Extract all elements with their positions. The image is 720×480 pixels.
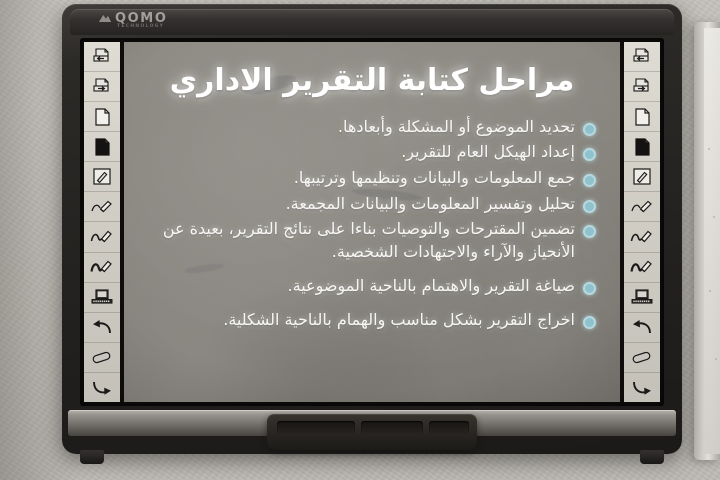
bullet-marker-icon	[583, 282, 596, 295]
redo-icon	[630, 379, 654, 396]
list-item: تحليل وتفسير المعلومات والبيانات المجمعة…	[146, 193, 596, 216]
keyboard-icon	[91, 288, 113, 306]
interactive-whiteboard: QOMO TECHNOLOGY	[62, 4, 682, 454]
tool-eraser[interactable]	[84, 343, 120, 373]
pen-tray[interactable]	[267, 414, 477, 450]
new-page-icon	[634, 108, 651, 126]
tool-pen-boxed[interactable]	[624, 162, 660, 192]
projection-screen: مراحل كتابة التقرير الاداري تحديد الموضو…	[124, 42, 620, 402]
tool-pen-medium[interactable]	[624, 222, 660, 252]
photo-scene: QOMO TECHNOLOGY	[0, 0, 720, 480]
tool-redo[interactable]	[84, 373, 120, 402]
tool-pen-thin[interactable]	[624, 192, 660, 222]
tool-redo[interactable]	[624, 373, 660, 402]
tool-page-previous[interactable]	[624, 42, 660, 72]
toolbar-left	[84, 42, 120, 402]
page-previous-icon	[92, 48, 112, 65]
pen-medium-icon	[90, 229, 114, 245]
bullet-marker-icon	[583, 174, 596, 187]
bullet-marker-icon	[583, 148, 596, 161]
list-item: جمع المعلومات والبيانات وتنظيمها وترتيبه…	[146, 167, 596, 190]
tool-keyboard[interactable]	[624, 283, 660, 313]
pen-slot	[361, 421, 423, 434]
tool-pen-thick[interactable]	[624, 253, 660, 283]
toolbar-right	[624, 42, 660, 402]
pen-boxed-icon	[632, 167, 652, 186]
pen-medium-icon	[630, 229, 654, 245]
tool-pen-boxed[interactable]	[84, 162, 120, 192]
tool-pen-thick[interactable]	[84, 253, 120, 283]
presentation-slide: مراحل كتابة التقرير الاداري تحديد الموضو…	[124, 42, 620, 402]
black-page-icon	[634, 138, 651, 156]
bullet-marker-icon	[583, 316, 596, 329]
bullet-text: صياغة التقرير والاهتمام بالناحية الموضوع…	[146, 275, 575, 298]
bullet-text: اخراج التقرير بشكل مناسب والهمام بالناحي…	[146, 309, 575, 332]
list-item: صياغة التقرير والاهتمام بالناحية الموضوع…	[146, 275, 596, 298]
black-page-icon	[94, 138, 111, 156]
pen-slot	[429, 421, 469, 434]
tool-eraser[interactable]	[624, 343, 660, 373]
tool-undo[interactable]	[84, 313, 120, 343]
tool-keyboard[interactable]	[84, 283, 120, 313]
tool-new-page[interactable]	[84, 102, 120, 132]
list-item: إعداد الهيكل العام للتقرير.	[146, 141, 596, 164]
mount-foot-left	[80, 450, 104, 464]
bullet-marker-icon	[583, 123, 596, 136]
whiteboard-inner-frame: مراحل كتابة التقرير الاداري تحديد الموضو…	[80, 38, 664, 406]
bullet-marker-icon	[583, 225, 596, 238]
bullet-text: جمع المعلومات والبيانات وتنظيمها وترتيبه…	[146, 167, 575, 190]
whiteboard-top-rail: QOMO TECHNOLOGY	[70, 9, 674, 35]
adjacent-whiteboard-surface	[704, 28, 720, 454]
pen-thick-icon	[630, 259, 654, 275]
page-previous-icon	[632, 48, 652, 65]
tool-page-next[interactable]	[84, 72, 120, 102]
page-next-icon	[92, 78, 112, 95]
pen-slot	[277, 421, 355, 434]
redo-icon	[90, 379, 114, 396]
bullet-text: إعداد الهيكل العام للتقرير.	[146, 141, 575, 164]
brand-subtitle: TECHNOLOGY	[117, 24, 164, 29]
undo-icon	[630, 319, 654, 336]
bullet-text: تضمين المقترحات والتوصيات بناءا على نتائ…	[146, 218, 575, 263]
tool-page-next[interactable]	[624, 72, 660, 102]
tool-page-previous[interactable]	[84, 42, 120, 72]
pen-boxed-icon	[92, 167, 112, 186]
slide-title: مراحل كتابة التقرير الاداري	[146, 64, 598, 98]
bullet-marker-icon	[583, 200, 596, 213]
undo-icon	[90, 319, 114, 336]
mount-foot-right	[640, 450, 664, 464]
tool-undo[interactable]	[624, 313, 660, 343]
tool-pen-thin[interactable]	[84, 192, 120, 222]
new-page-icon	[94, 108, 111, 126]
pen-thin-icon	[630, 199, 654, 215]
tool-black-page[interactable]	[624, 132, 660, 162]
tool-black-page[interactable]	[84, 132, 120, 162]
pen-thick-icon	[90, 259, 114, 275]
slide-bullet-list: تحديد الموضوع أو المشكلة وأبعادها. إعداد…	[146, 116, 598, 332]
bullet-text: تحديد الموضوع أو المشكلة وأبعادها.	[146, 116, 575, 139]
bullet-text: تحليل وتفسير المعلومات والبيانات المجمعة…	[146, 193, 575, 216]
page-next-icon	[632, 78, 652, 95]
adjacent-whiteboard	[694, 22, 720, 460]
list-item: تضمين المقترحات والتوصيات بناءا على نتائ…	[146, 218, 596, 263]
list-item: اخراج التقرير بشكل مناسب والهمام بالناحي…	[146, 309, 596, 332]
eraser-icon	[90, 350, 114, 365]
keyboard-icon	[631, 288, 653, 306]
mountain-chevron-icon	[98, 13, 112, 24]
eraser-icon	[630, 350, 654, 365]
pen-thin-icon	[90, 199, 114, 215]
list-item: تحديد الموضوع أو المشكلة وأبعادها.	[146, 116, 596, 139]
tool-new-page[interactable]	[624, 102, 660, 132]
tool-pen-medium[interactable]	[84, 222, 120, 252]
